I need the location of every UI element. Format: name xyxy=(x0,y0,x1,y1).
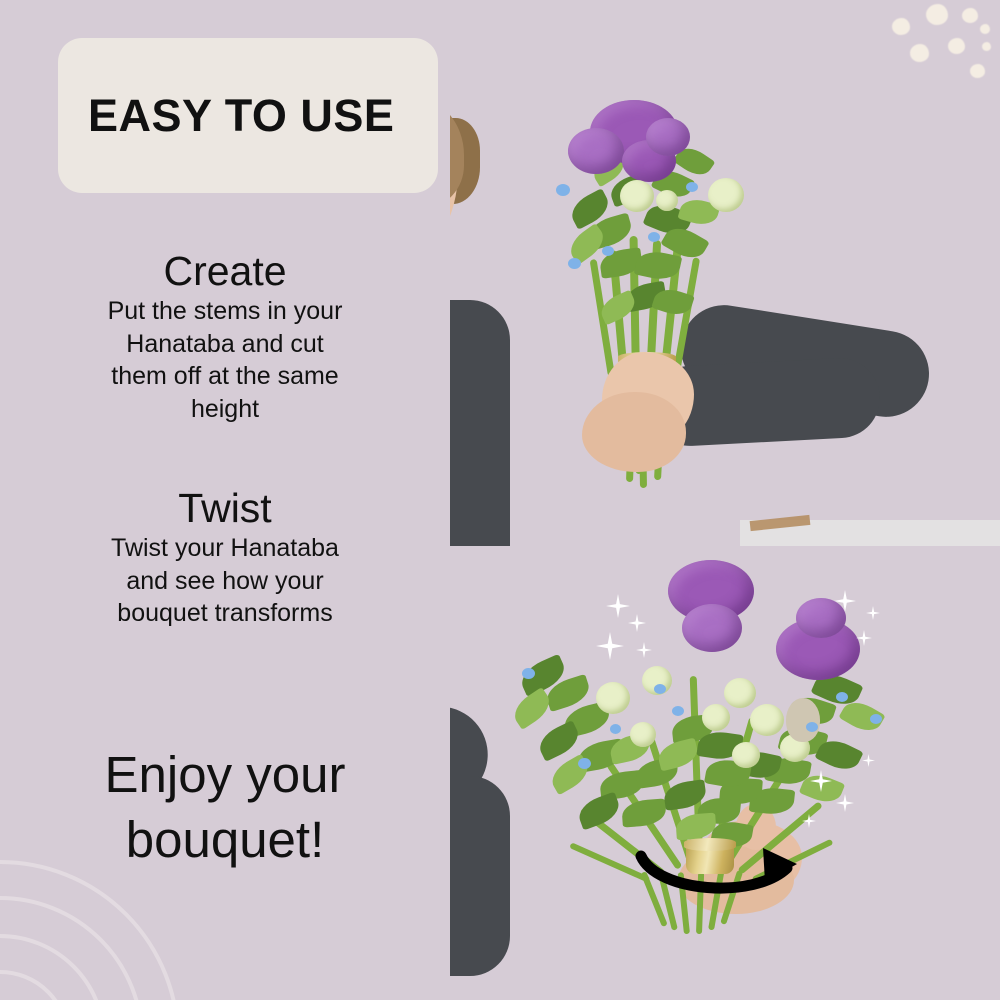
easy-to-use-badge: EASY TO USE xyxy=(58,38,438,193)
twist-direction-arrow xyxy=(635,838,815,902)
hand-lower xyxy=(582,392,686,472)
sparkle-icon xyxy=(606,594,630,618)
sparkle-icon xyxy=(836,794,854,812)
step-body: Twist your Hanataba and see how your bou… xyxy=(100,532,350,630)
dried-bloom xyxy=(786,698,820,742)
sparkle-icon xyxy=(862,754,875,767)
sparkle-icon xyxy=(810,770,832,792)
step-twist: Twist Twist your Hanataba and see how yo… xyxy=(0,487,450,630)
photo-create-step xyxy=(450,0,1000,546)
sparkle-icon xyxy=(636,642,652,658)
photo-twist-step xyxy=(450,546,1000,1000)
steps-list: Create Put the stems in your Hanataba an… xyxy=(0,250,450,636)
promo-graphic: EASY TO USE Create Put the stems in your… xyxy=(0,0,1000,1000)
sparkle-icon xyxy=(866,606,880,620)
sleeve-body xyxy=(450,776,510,976)
sparkle-icon xyxy=(856,630,872,646)
badge-title: EASY TO USE xyxy=(88,93,394,138)
torso xyxy=(450,300,510,546)
step-body: Put the stems in your Hanataba and cut t… xyxy=(100,295,350,425)
finale-headline: Enjoy your bouquet! xyxy=(0,742,450,873)
sparkle-icon xyxy=(834,590,856,612)
step-create: Create Put the stems in your Hanataba an… xyxy=(0,250,450,425)
step-title: Create xyxy=(0,250,450,293)
sparkle-icon xyxy=(628,614,646,632)
sparkle-icon xyxy=(802,814,816,828)
sparkle-icon xyxy=(596,632,624,660)
step-title: Twist xyxy=(0,487,450,530)
